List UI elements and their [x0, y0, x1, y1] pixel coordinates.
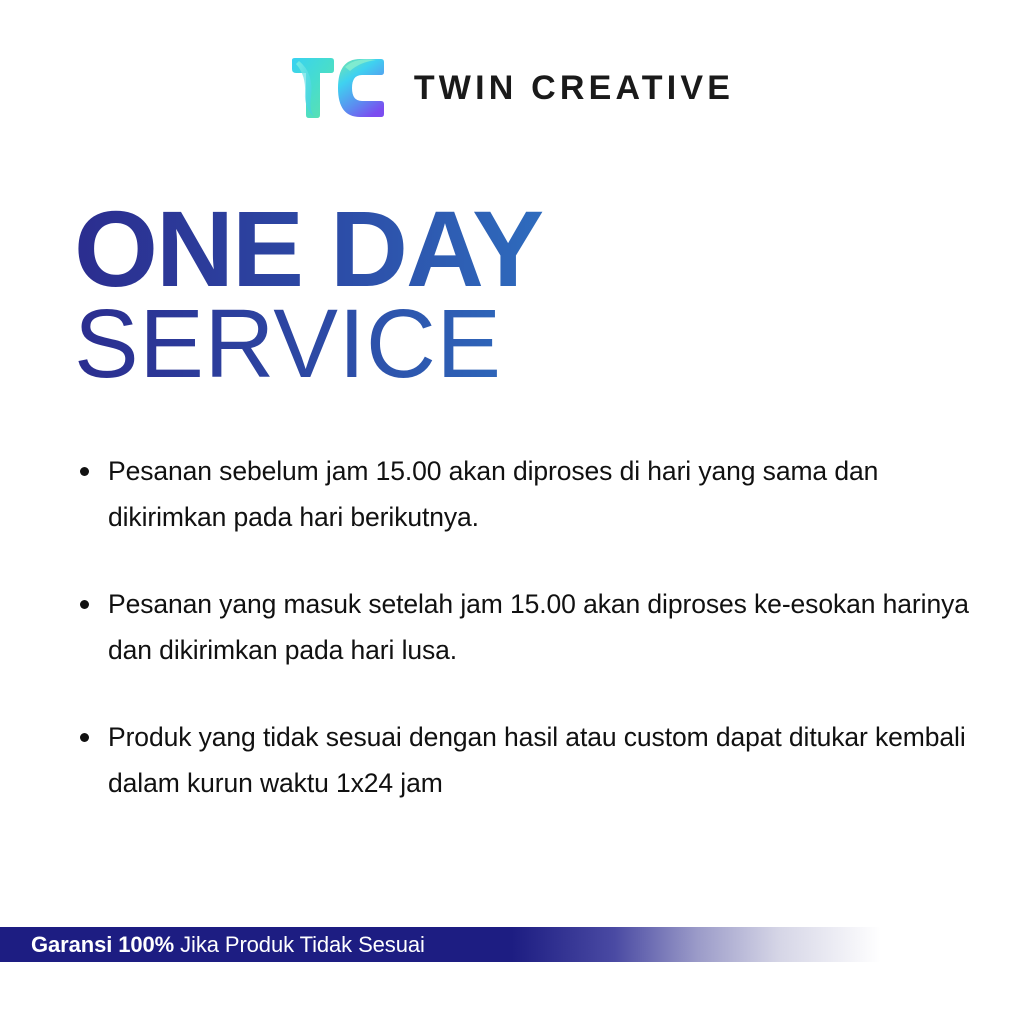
- guarantee-banner: Garansi 100% Jika Produk Tidak Sesuai: [0, 927, 1024, 962]
- promo-canvas: TWIN CREATIVE ONE DAY SERVICE Pesanan se…: [0, 0, 1024, 1024]
- guarantee-rest: Jika Produk Tidak Sesuai: [174, 932, 425, 957]
- list-item-text: Pesanan yang masuk setelah jam 15.00 aka…: [108, 589, 969, 665]
- headline-line-two: SERVICE: [74, 296, 954, 391]
- brand-wordmark: TWIN CREATIVE: [414, 71, 734, 105]
- bullet-dot-icon: [80, 467, 89, 476]
- bullet-dot-icon: [80, 733, 89, 742]
- bullet-dot-icon: [80, 600, 89, 609]
- policy-bullet-list: Pesanan sebelum jam 15.00 akan diproses …: [74, 448, 974, 806]
- headline-line-one: ONE DAY: [74, 196, 954, 302]
- list-item-text: Produk yang tidak sesuai dengan hasil at…: [108, 722, 966, 798]
- list-item: Pesanan yang masuk setelah jam 15.00 aka…: [74, 581, 974, 673]
- brand-lockup: TWIN CREATIVE: [0, 52, 1024, 124]
- tc-monogram-icon: [290, 57, 388, 119]
- guarantee-banner-text: Garansi 100% Jika Produk Tidak Sesuai: [0, 934, 425, 956]
- headline-block: ONE DAY SERVICE: [74, 196, 954, 391]
- list-item-text: Pesanan sebelum jam 15.00 akan diproses …: [108, 456, 878, 532]
- list-item: Produk yang tidak sesuai dengan hasil at…: [74, 714, 974, 806]
- list-item: Pesanan sebelum jam 15.00 akan diproses …: [74, 448, 974, 540]
- guarantee-emphasis: Garansi 100%: [31, 932, 174, 957]
